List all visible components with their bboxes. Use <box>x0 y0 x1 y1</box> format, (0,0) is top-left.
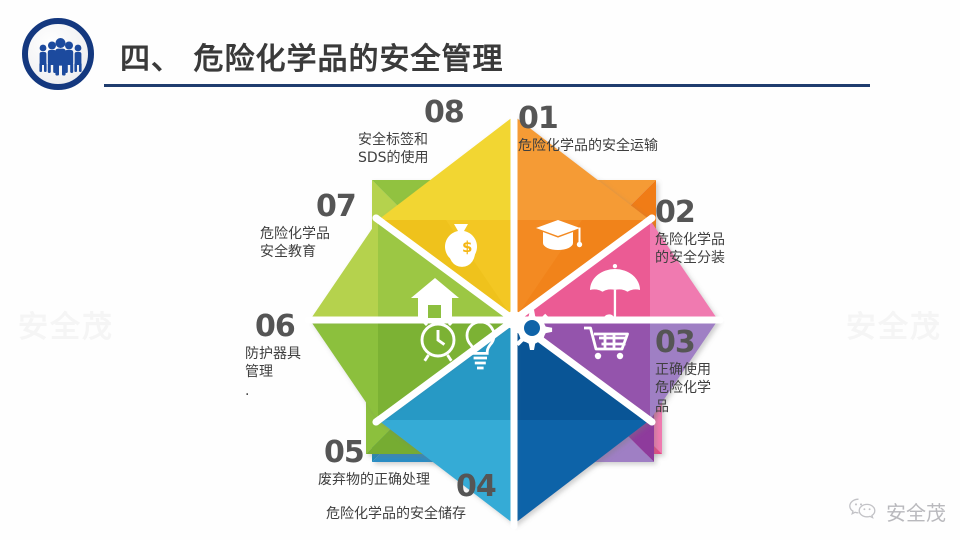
label-caption-05: 废弃物的正确处理 <box>318 471 430 489</box>
wechat-icon <box>848 497 878 526</box>
label-06[interactable]: 06 防护器具 管理 . <box>245 312 301 400</box>
label-03[interactable]: 03 正确使用 危险化学 品 <box>655 328 711 416</box>
label-01[interactable]: 01 危险化学品的安全运输 <box>518 104 658 155</box>
svg-text:$: $ <box>462 238 472 256</box>
brand-watermark: 安全茂 <box>848 497 946 526</box>
page-title: 四、 危险化学品的安全管理 <box>120 34 503 78</box>
gear-icon <box>512 310 552 350</box>
label-caption-07: 危险化学品 安全教育 <box>260 225 356 262</box>
label-07[interactable]: 07 危险化学品 安全教育 <box>260 192 356 262</box>
label-caption-06: 防护器具 管理 . <box>245 345 301 400</box>
label-number-01: 01 <box>518 104 658 134</box>
label-caption-08: 安全标签和 SDS的使用 <box>358 131 464 168</box>
label-number-07: 07 <box>316 192 356 222</box>
label-02[interactable]: 02 危险化学品 的安全分装 <box>655 198 725 268</box>
label-caption-02: 危险化学品 的安全分装 <box>655 231 725 268</box>
label-caption-01: 危险化学品的安全运输 <box>518 137 658 155</box>
label-number-03: 03 <box>655 328 711 358</box>
slide-header: 四、 危险化学品的安全管理 <box>0 0 960 96</box>
label-number-02: 02 <box>655 198 725 228</box>
label-number-08: 08 <box>424 98 464 128</box>
people-group-icon <box>22 18 94 90</box>
label-number-05: 05 <box>324 438 430 468</box>
label-number-04: 04 <box>456 472 496 502</box>
label-number-06: 06 <box>255 312 301 342</box>
watermark-text-left: 安全茂 <box>18 302 114 346</box>
watermark-text-right: 安全茂 <box>846 302 942 346</box>
brand-watermark-text: 安全茂 <box>886 497 946 526</box>
title-underline <box>104 84 870 87</box>
label-08[interactable]: 08 安全标签和 SDS的使用 <box>358 98 464 168</box>
label-caption-03: 正确使用 危险化学 品 <box>655 361 711 416</box>
label-caption-04: 危险化学品的安全储存 <box>326 505 496 523</box>
label-05[interactable]: 05 废弃物的正确处理 <box>318 438 430 489</box>
slide-root: 四、 危险化学品的安全管理 安全茂 安全茂 <box>0 0 960 540</box>
